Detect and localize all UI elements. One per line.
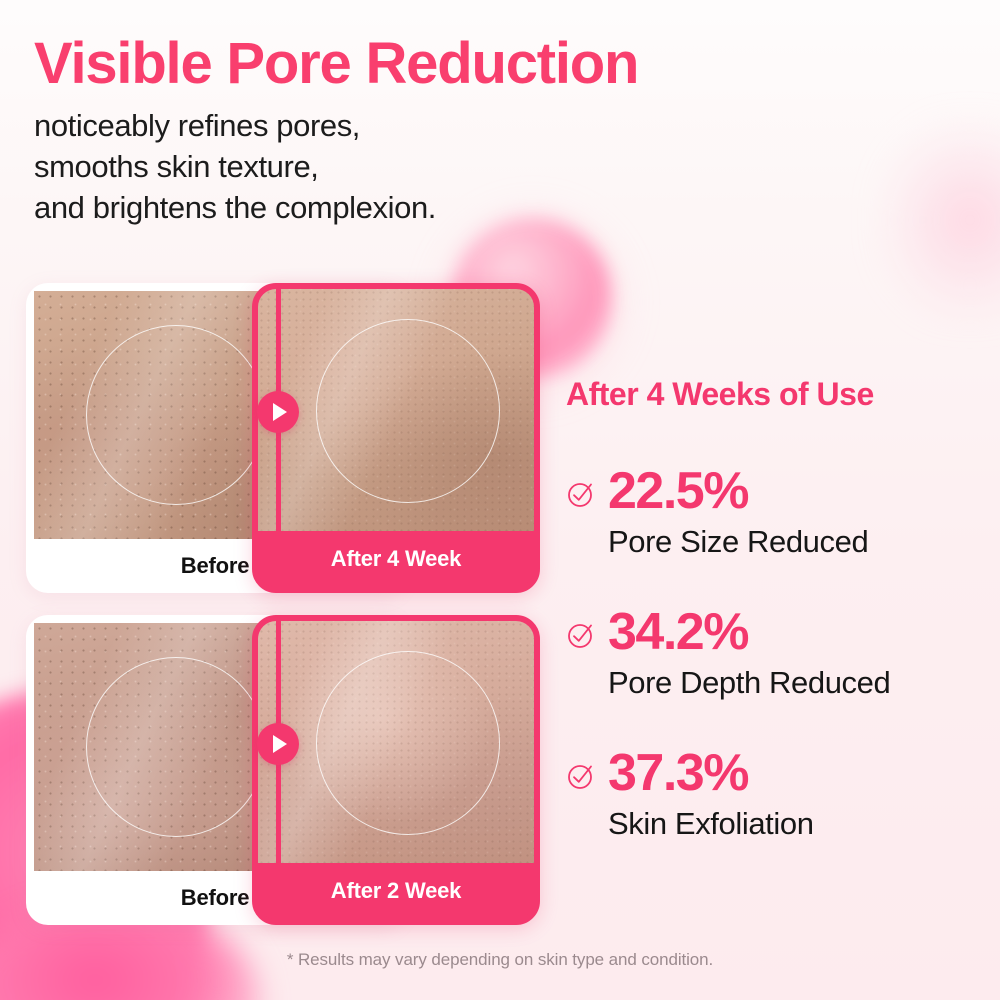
stats-panel: After 4 Weeks of Use 22.5% Pore Size Red… [566, 376, 976, 843]
decorative-blob-top-right [880, 120, 1000, 320]
after-label: After 4 Week [331, 546, 461, 572]
after-caption-1: After 4 Week [258, 531, 534, 587]
zoom-circle-overlay [86, 325, 266, 505]
stat-value: 34.2% [608, 606, 976, 658]
check-circle-icon [566, 620, 596, 650]
before-label: Before [181, 553, 250, 579]
comparison-row-2: Before After 2 Week [26, 615, 516, 925]
after-photo-2 [258, 621, 534, 863]
subtitle: noticeably refines pores, smooths skin t… [34, 106, 794, 229]
page-title: Visible Pore Reduction [34, 34, 794, 94]
stat-label: Skin Exfoliation [608, 805, 976, 842]
stat-label: Pore Size Reduced [608, 523, 976, 560]
stat-value: 37.3% [608, 747, 976, 799]
infographic-canvas: Visible Pore Reduction noticeably refine… [0, 0, 1000, 1000]
zoom-circle-overlay [316, 319, 500, 503]
subtitle-line-2: smooths skin texture, [34, 147, 794, 188]
stat-label: Pore Depth Reduced [608, 664, 976, 701]
stat-item-pore-depth: 34.2% Pore Depth Reduced [566, 606, 976, 701]
header: Visible Pore Reduction noticeably refine… [34, 34, 794, 229]
zoom-circle-overlay [86, 657, 266, 837]
after-card-2: After 2 Week [252, 615, 540, 925]
play-icon[interactable] [257, 391, 299, 433]
check-circle-icon [566, 479, 596, 509]
zoom-circle-overlay [316, 651, 500, 835]
subtitle-line-1: noticeably refines pores, [34, 106, 794, 147]
after-photo-1 [258, 289, 534, 531]
stat-value: 22.5% [608, 465, 976, 517]
after-caption-2: After 2 Week [258, 863, 534, 919]
check-circle-icon [566, 761, 596, 791]
play-icon[interactable] [257, 723, 299, 765]
after-card-1: After 4 Week [252, 283, 540, 593]
subtitle-line-3: and brightens the complexion. [34, 188, 794, 229]
after-label: After 2 Week [331, 878, 461, 904]
stats-heading: After 4 Weeks of Use [566, 376, 976, 413]
comparison-row-1: Before After 4 Week [26, 283, 516, 593]
before-label: Before [181, 885, 250, 911]
disclaimer-text: * Results may vary depending on skin typ… [0, 950, 1000, 970]
stat-item-exfoliation: 37.3% Skin Exfoliation [566, 747, 976, 842]
stat-item-pore-size: 22.5% Pore Size Reduced [566, 465, 976, 560]
